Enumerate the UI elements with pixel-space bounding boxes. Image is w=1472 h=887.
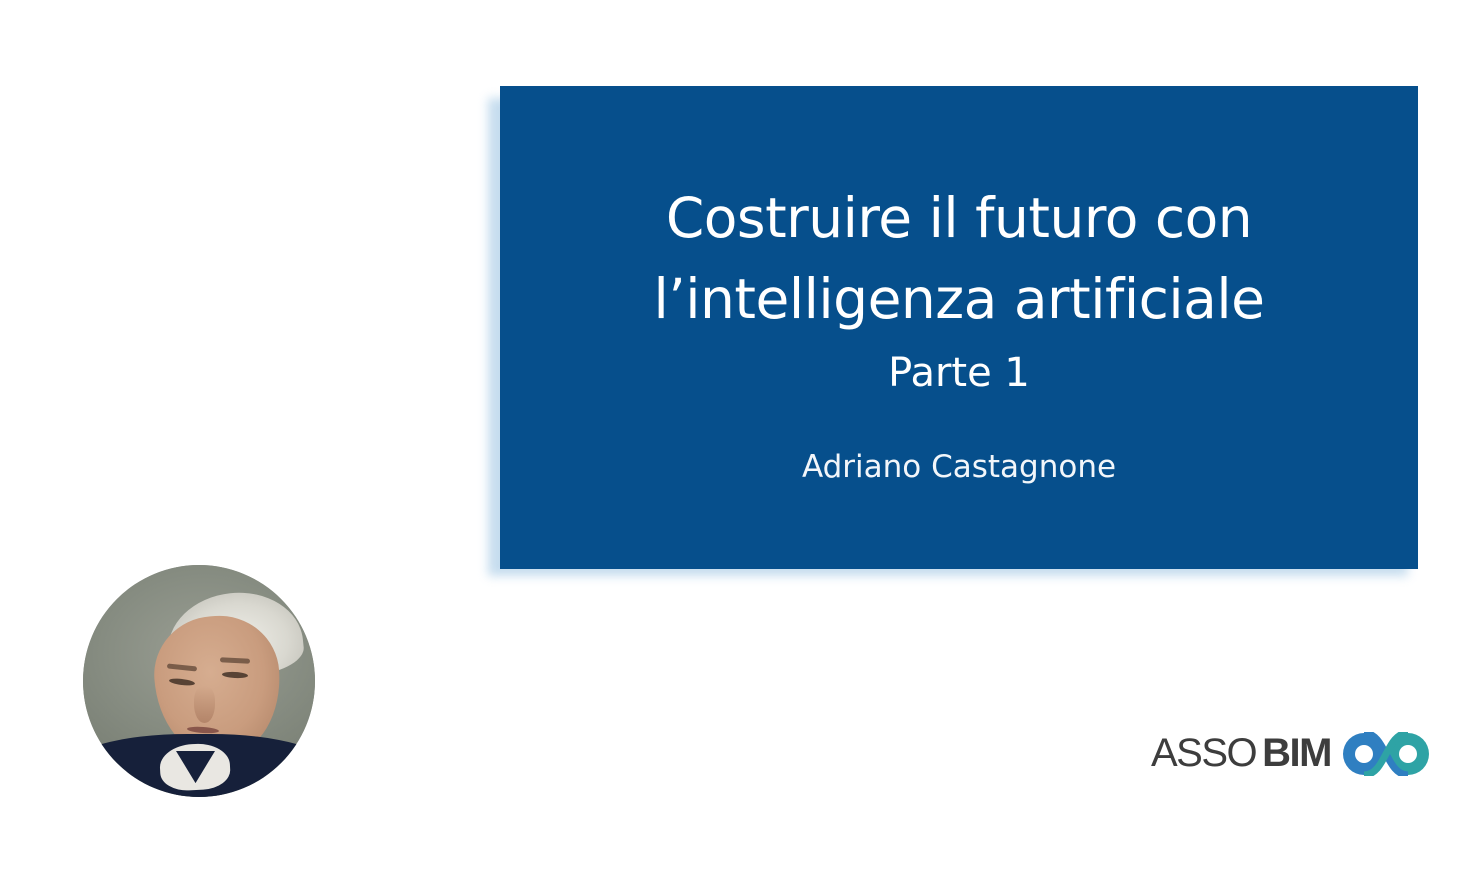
slide-author: Adriano Castagnone <box>802 449 1116 485</box>
watermark-bim-text: BIM <box>1262 731 1331 776</box>
presentation-slide: Costruire il futuro con l’intelligenza a… <box>500 86 1418 569</box>
youtube-studio-watch-page: Costruire il futuro con l’intelligenza a… <box>0 0 1472 887</box>
slide-title-line2: l’intelligenza artificiale <box>654 267 1265 331</box>
video-player[interactable]: Costruire il futuro con l’intelligenza a… <box>0 0 1472 800</box>
speaker-nose <box>194 686 215 723</box>
assobim-infinity-mark-icon <box>1341 732 1431 776</box>
slide-title: Costruire il futuro con l’intelligenza a… <box>654 178 1265 341</box>
slide-subtitle: Parte 1 <box>888 351 1030 395</box>
watermark-asso-text: ASSO <box>1151 731 1256 776</box>
assobim-watermark: ASSO BIM <box>1151 731 1431 776</box>
speaker-webcam-circle <box>83 565 315 797</box>
slide-title-line1: Costruire il futuro con <box>666 186 1252 250</box>
video-meta-bar: Costruire il futuro con l'Intelliegenza … <box>0 800 1472 887</box>
